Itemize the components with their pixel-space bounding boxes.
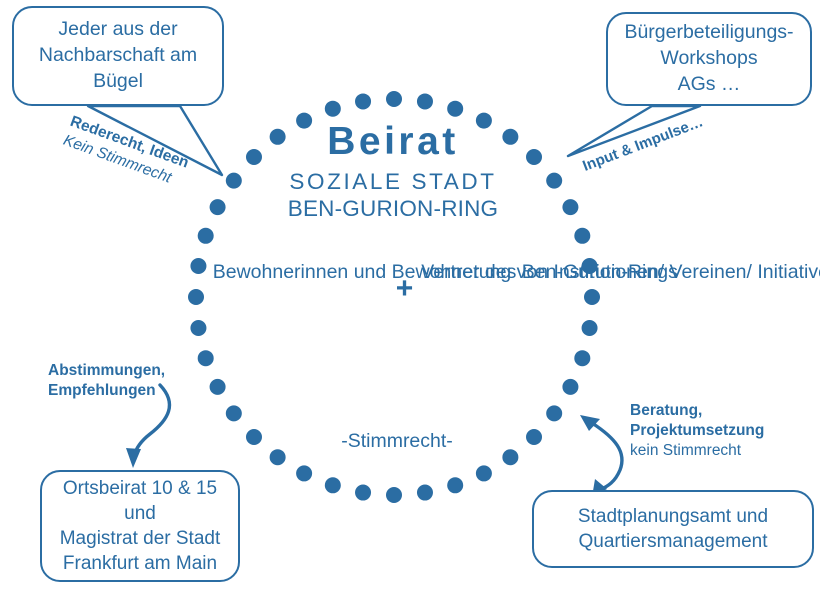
ring-subtitle-secondary: BEN-GURION-RING: [243, 195, 543, 222]
ring-dot: [447, 477, 463, 493]
bubble-participation-line-3: AGs …: [614, 72, 804, 98]
bubble-participation-text: Bürgerbeteiligungs- Workshops AGs …: [608, 20, 810, 97]
box-ortsbeirat-line-1: Ortsbeirat 10 & 15: [48, 476, 232, 501]
box-ortsbeirat-line-2: und: [48, 501, 232, 526]
ring-title-block: Beirat SOZIALE STADT BEN-GURION-RING: [243, 122, 543, 222]
annotation-beratung-line-1: Beratung,: [630, 401, 764, 421]
arrowhead-ortsbeirat: [126, 448, 141, 468]
ring-dot: [355, 485, 371, 501]
ring-dot: [325, 477, 341, 493]
ring-dot: [190, 258, 206, 274]
ring-dot: [296, 465, 312, 481]
ring-dot: [562, 379, 578, 395]
annotation-abstimmungen-line-2: Empfehlungen: [48, 381, 165, 401]
bubble-neighbourhood-line-1: Jeder aus der: [20, 17, 216, 43]
ring-institutions-line-1: Vertretung: [421, 261, 511, 283]
ring-column-institutions: Vertretung von Institutionen/ Vereinen/ …: [421, 258, 581, 286]
diagram-canvas: Jeder aus der Nachbarschaft am Bügel Bür…: [0, 0, 820, 600]
box-ortsbeirat-line-3: Magistrat der Stadt: [48, 526, 232, 551]
box-stadtplanungsamt-line-2: Quartiersmanagement: [540, 529, 806, 554]
annotation-beratung-line-3: kein Stimmrecht: [630, 441, 764, 461]
ring-dot: [355, 93, 371, 109]
ring-dot: [386, 91, 402, 107]
annotation-input-impulse: Input & Impulse…: [580, 112, 706, 176]
box-stadtplanungsamt[interactable]: Stadtplanungsamt und Quartiersmanagement: [532, 490, 814, 568]
ring-dot: [210, 379, 226, 395]
annotation-rederecht: Rederecht, Ideen Kein Stimmrecht: [60, 112, 191, 192]
bubble-neighbourhood-line-2: Nachbarschaft am: [20, 43, 216, 69]
plus-sign: +: [388, 268, 422, 304]
ring-dot: [188, 289, 204, 305]
box-stadtplanungsamt-text: Stadtplanungsamt und Quartiersmanagement: [534, 504, 812, 554]
bubble-neighbourhood-line-3: Bügel: [20, 69, 216, 95]
ring-dot: [417, 93, 433, 109]
box-stadtplanungsamt-line-1: Stadtplanungsamt und: [540, 504, 806, 529]
ring-dot: [546, 173, 562, 189]
ring-dot: [447, 101, 463, 117]
ring-dot: [190, 320, 206, 336]
ring-subtitle-primary: SOZIALE STADT: [243, 169, 543, 195]
ring-dot: [582, 320, 598, 336]
bubble-participation[interactable]: Bürgerbeteiligungs- Workshops AGs …: [606, 12, 812, 106]
annotation-abstimmungen-line-1: Abstimmungen,: [48, 361, 165, 381]
ring-institutions-line-4: Vereinen/: [670, 261, 752, 283]
box-ortsbeirat-line-4: Frankfurt am Main: [48, 551, 232, 576]
bubble-neighbourhood-text: Jeder aus der Nachbarschaft am Bügel: [14, 17, 222, 94]
annotation-abstimmungen: Abstimmungen, Empfehlungen: [48, 361, 165, 401]
ring-institutions-line-2: von: [517, 261, 548, 283]
box-ortsbeirat-text: Ortsbeirat 10 & 15 und Magistrat der Sta…: [42, 476, 238, 576]
annotation-beratung-line-2: Projektumsetzung: [630, 421, 764, 441]
ring-dot: [386, 487, 402, 503]
bubble-participation-line-1: Bürgerbeteiligungs-: [614, 20, 804, 46]
page-title: Beirat: [243, 122, 543, 163]
ring-institutions-line-3: Institutionen/: [554, 261, 665, 283]
annotation-beratung: Beratung, Projektumsetzung kein Stimmrec…: [630, 401, 764, 460]
ring-dot: [226, 405, 242, 421]
bubble-neighbourhood[interactable]: Jeder aus der Nachbarschaft am Bügel: [12, 6, 224, 106]
ring-dot: [198, 228, 214, 244]
ring-dot: [562, 199, 578, 215]
ring-institutions-line-5: Initiativen: [757, 261, 820, 283]
ring-voting-right-note: -Stimmrecht-: [262, 430, 532, 453]
ring-dot: [574, 350, 590, 366]
ring-membership-columns: Bewohnerinnen und Bewohner des Ben-Gurio…: [212, 258, 582, 304]
ring-dot: [246, 429, 262, 445]
ring-residents-line-1: Bewohnerinnen: [213, 261, 349, 283]
ring-dot: [226, 173, 242, 189]
ring-dot: [325, 101, 341, 117]
box-ortsbeirat[interactable]: Ortsbeirat 10 & 15 und Magistrat der Sta…: [40, 470, 240, 582]
arrow-ring-stadtplanung: [592, 423, 622, 490]
ring-dot: [210, 199, 226, 215]
bubble-participation-line-2: Workshops: [614, 46, 804, 72]
ring-dot: [546, 405, 562, 421]
ring-dot: [574, 228, 590, 244]
annotation-input-impulse-bold: Input & Impulse…: [580, 112, 706, 176]
ring-dot: [417, 485, 433, 501]
ring-dot: [198, 350, 214, 366]
ring-column-residents: Bewohnerinnen und Bewohner des Ben-Gurio…: [213, 258, 388, 286]
ring-dot: [476, 465, 492, 481]
ring-dot: [584, 289, 600, 305]
arrowhead-up-ring: [580, 415, 600, 431]
